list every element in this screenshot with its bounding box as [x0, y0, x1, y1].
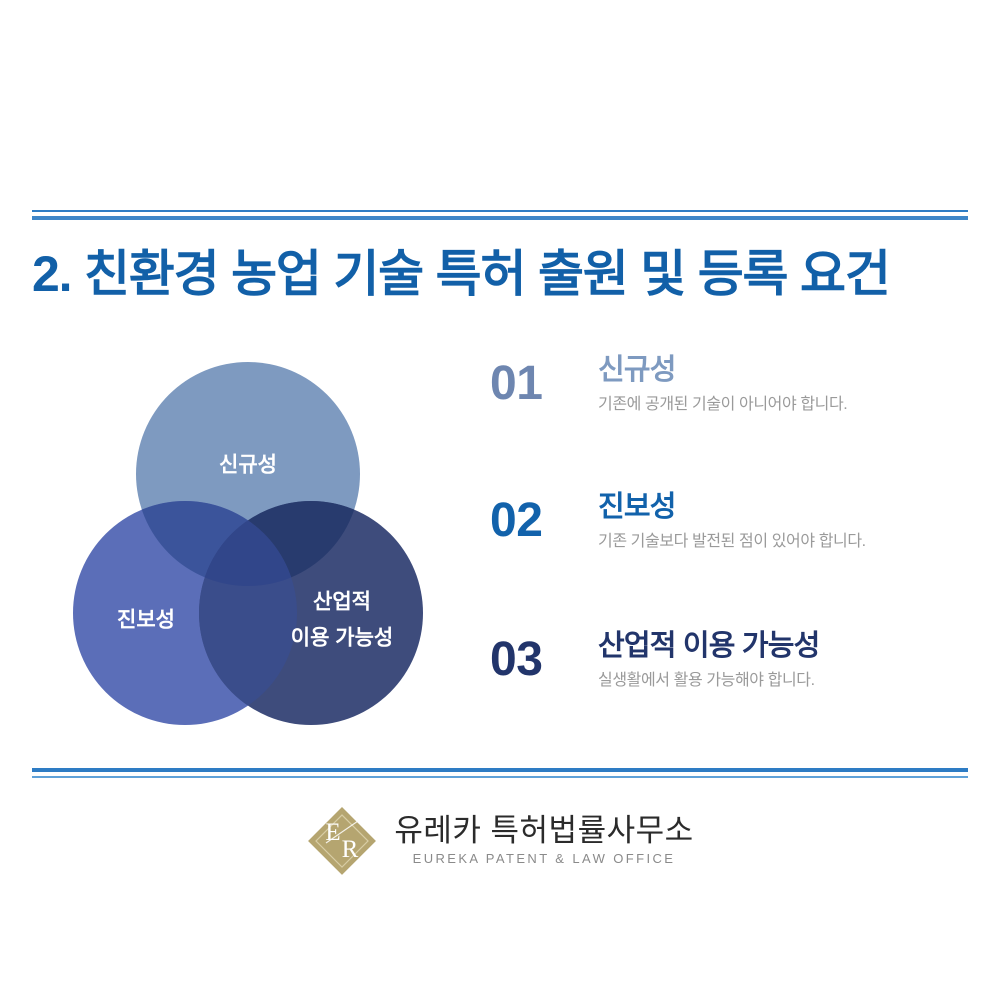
diamond-monogram-icon: E R — [306, 805, 378, 877]
divider-bottom-thin-line — [32, 776, 968, 778]
venn-label-novelty: 신규성 — [219, 454, 277, 477]
footer: E R 유레카 특허법률사무소 EUREKA PATENT & LAW OFFI… — [0, 805, 1000, 877]
requirement-item-01: 01 신규성 기존에 공개된 기술이 아니어야 합니다. — [490, 352, 960, 462]
venn-label-industrial-line1: 산업적 — [313, 591, 371, 614]
requirement-description-03: 실생활에서 활용 가능해야 합니다. — [598, 670, 958, 692]
venn-label-inventiveness: 진보성 — [117, 609, 175, 632]
divider-top-thick-line — [32, 216, 968, 220]
requirement-item-03: 03 산업적 이용 가능성 실생활에서 활용 가능해야 합니다. — [490, 628, 960, 738]
divider-top — [32, 210, 968, 220]
requirement-description-01: 기존에 공개된 기술이 아니어야 합니다. — [598, 394, 958, 416]
requirement-number-03: 03 — [490, 636, 582, 684]
requirement-body-01: 신규성 기존에 공개된 기술이 아니어야 합니다. — [598, 352, 958, 416]
requirement-title-02: 진보성 — [598, 489, 958, 525]
requirement-body-02: 진보성 기존 기술보다 발전된 점이 있어야 합니다. — [598, 489, 958, 553]
requirement-title-03: 산업적 이용 가능성 — [598, 628, 958, 664]
venn-label-industrial-line2: 이용 가능성 — [291, 627, 393, 650]
company-name-block: 유레카 특허법률사무소 EUREKA PATENT & LAW OFFICE — [394, 814, 693, 868]
divider-top-thin-line — [32, 210, 968, 212]
requirement-description-02: 기존 기술보다 발전된 점이 있어야 합니다. — [598, 531, 958, 553]
company-name-ko: 유레카 특허법률사무소 — [394, 814, 693, 848]
slide-root: 2. 친환경 농업 기술 특허 출원 및 등록 요건 — [0, 0, 1000, 1000]
requirement-number-01: 01 — [490, 360, 582, 408]
requirement-number-02: 02 — [490, 497, 582, 545]
venn-diagram: 신규성 진보성 산업적 이용 가능성 — [52, 356, 452, 746]
requirement-title-01: 신규성 — [598, 352, 958, 388]
monogram-letter-r: R — [342, 836, 359, 863]
requirement-body-03: 산업적 이용 가능성 실생활에서 활용 가능해야 합니다. — [598, 628, 958, 692]
company-name-en: EUREKA PATENT & LAW OFFICE — [394, 852, 693, 866]
page-title: 2. 친환경 농업 기술 특허 출원 및 등록 요건 — [32, 246, 968, 304]
divider-bottom — [32, 768, 968, 778]
company-logo: E R 유레카 특허법률사무소 EUREKA PATENT & LAW OFFI… — [306, 805, 693, 877]
divider-bottom-thick-line — [32, 768, 968, 772]
requirement-item-02: 02 진보성 기존 기술보다 발전된 점이 있어야 합니다. — [490, 489, 960, 599]
